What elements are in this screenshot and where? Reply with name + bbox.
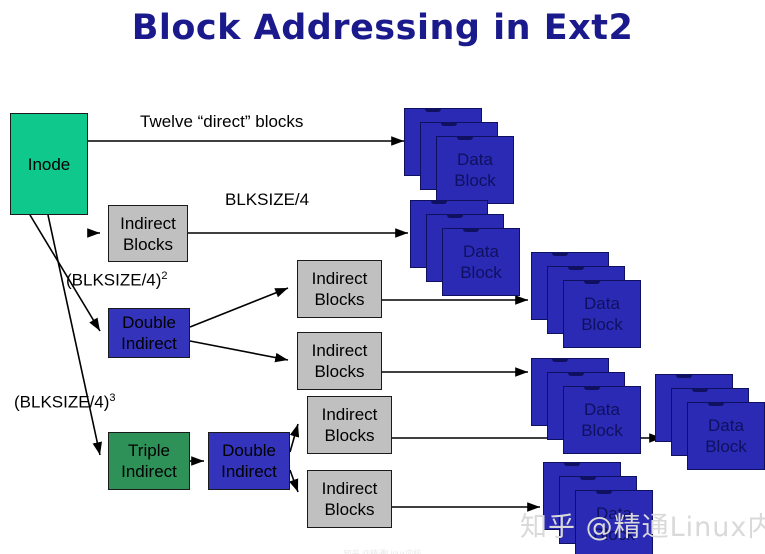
node-triple-indirect-line1: Triple bbox=[128, 440, 170, 461]
data-block-label-line1: Data bbox=[584, 399, 620, 420]
node-indirect-blocks-4-line2: Blocks bbox=[324, 425, 374, 446]
watermark-strip: 知乎 @精通Linux内核 bbox=[0, 548, 765, 554]
edge-label-triple-indirect: (BLKSIZE/4)3 bbox=[14, 392, 116, 413]
node-indirect-blocks-5-line2: Blocks bbox=[324, 499, 374, 520]
data-block-card-front: Data Block bbox=[563, 280, 641, 348]
node-triple-indirect[interactable]: Triple Indirect bbox=[108, 432, 190, 490]
data-block-stack-1[interactable]: Data Block bbox=[404, 108, 514, 204]
data-block-stack-2[interactable]: Data Block bbox=[410, 200, 520, 296]
data-block-card-front: Data Block bbox=[687, 402, 765, 470]
data-block-label-line2: Block bbox=[581, 420, 623, 441]
node-indirect-blocks-1-line1: Indirect bbox=[120, 213, 176, 234]
data-block-card-front: Data Block bbox=[442, 228, 520, 296]
data-block-label-line2: Block bbox=[454, 170, 496, 191]
node-indirect-blocks-3[interactable]: Indirect Blocks bbox=[297, 332, 382, 390]
node-inode[interactable]: Inode bbox=[10, 113, 88, 215]
node-indirect-blocks-2-line1: Indirect bbox=[312, 268, 368, 289]
node-double-indirect-1-line1: Double bbox=[122, 312, 176, 333]
edge-label-single-indirect: BLKSIZE/4 bbox=[225, 190, 309, 210]
node-inode-label: Inode bbox=[28, 154, 71, 175]
node-double-indirect-1[interactable]: Double Indirect bbox=[108, 308, 190, 358]
data-block-card-front: Data Block bbox=[563, 386, 641, 454]
node-indirect-blocks-3-line1: Indirect bbox=[312, 340, 368, 361]
node-triple-indirect-line2: Indirect bbox=[121, 461, 177, 482]
node-indirect-blocks-5-line1: Indirect bbox=[322, 478, 378, 499]
node-indirect-blocks-5[interactable]: Indirect Blocks bbox=[307, 470, 392, 528]
node-indirect-blocks-3-line2: Blocks bbox=[314, 361, 364, 382]
watermark: 知乎 @精通Linux内核 bbox=[520, 505, 765, 544]
node-indirect-blocks-2[interactable]: Indirect Blocks bbox=[297, 260, 382, 318]
data-block-card-front: Data Block bbox=[436, 136, 514, 204]
edge-label-double-exponent: 2 bbox=[161, 270, 167, 282]
node-indirect-blocks-2-line2: Blocks bbox=[314, 289, 364, 310]
node-indirect-blocks-1[interactable]: Indirect Blocks bbox=[108, 205, 188, 262]
node-double-indirect-2[interactable]: Double Indirect bbox=[208, 432, 290, 490]
data-block-label-line1: Data bbox=[457, 149, 493, 170]
data-block-label-line2: Block bbox=[581, 314, 623, 335]
node-indirect-blocks-1-line2: Blocks bbox=[123, 234, 173, 255]
edge-label-double-indirect: (BLKSIZE/4)2 bbox=[66, 270, 168, 291]
node-double-indirect-1-line2: Indirect bbox=[121, 333, 177, 354]
data-block-label-line1: Data bbox=[584, 293, 620, 314]
slide-canvas: Block Addressing in Ext2 bbox=[0, 0, 765, 554]
data-block-label-line2: Block bbox=[705, 436, 747, 457]
edge-label-direct: Twelve “direct” blocks bbox=[140, 112, 303, 132]
edge-label-triple-exponent: 3 bbox=[109, 392, 115, 404]
data-block-stack-5[interactable]: Data Block bbox=[655, 374, 765, 470]
node-double-indirect-2-line1: Double bbox=[222, 440, 276, 461]
edge-label-double-base: (BLKSIZE/4) bbox=[66, 271, 161, 290]
edge-label-triple-base: (BLKSIZE/4) bbox=[14, 393, 109, 412]
data-block-stack-3[interactable]: Data Block bbox=[531, 252, 641, 348]
node-double-indirect-2-line2: Indirect bbox=[221, 461, 277, 482]
data-block-stack-4[interactable]: Data Block bbox=[531, 358, 641, 454]
data-block-label-line1: Data bbox=[463, 241, 499, 262]
data-block-label-line1: Data bbox=[708, 415, 744, 436]
page-title: Block Addressing in Ext2 bbox=[0, 8, 765, 48]
node-indirect-blocks-4[interactable]: Indirect Blocks bbox=[307, 396, 392, 454]
data-block-label-line2: Block bbox=[460, 262, 502, 283]
node-indirect-blocks-4-line1: Indirect bbox=[322, 404, 378, 425]
